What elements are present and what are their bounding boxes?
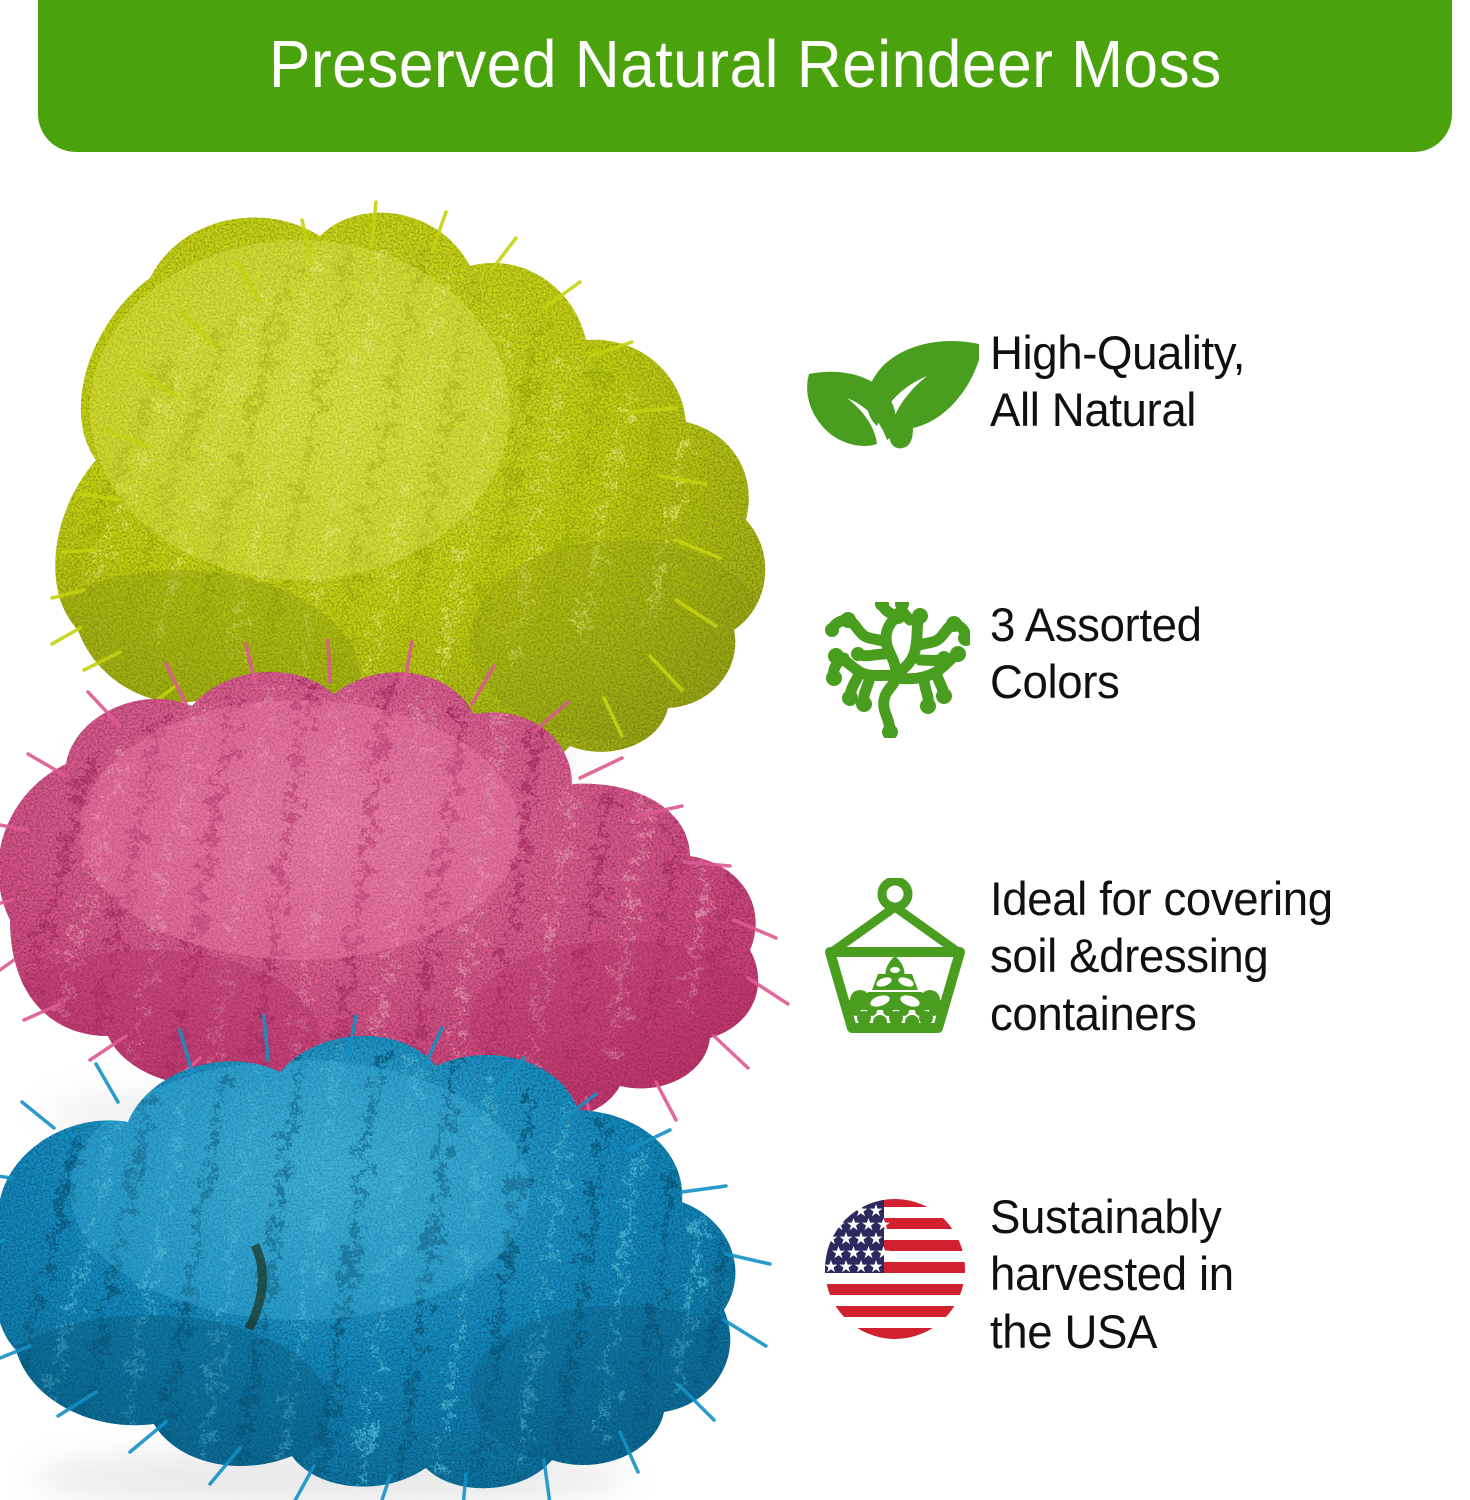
hanging-planter-basket-icon bbox=[800, 870, 990, 1042]
two-leaves-icon bbox=[800, 324, 990, 450]
feature-item-assorted-colors: 3 Assorted Colors bbox=[800, 596, 1470, 738]
header-banner: Preserved Natural Reindeer Moss bbox=[38, 0, 1452, 152]
coral-moss-clump-icon bbox=[800, 596, 990, 738]
feature-label-assorted-colors: 3 Assorted Colors bbox=[990, 596, 1456, 711]
feature-item-covering-soil: Ideal for covering soil &dressing contai… bbox=[800, 870, 1470, 1042]
feature-label-covering-soil: Ideal for covering soil &dressing contai… bbox=[990, 870, 1456, 1042]
feature-label-usa-harvested: Sustainably harvested in the USA bbox=[990, 1188, 1456, 1360]
feature-item-usa-harvested: Sustainably harvested in the USA bbox=[800, 1188, 1470, 1360]
product-photo bbox=[0, 160, 790, 1500]
moss-photo-illustration bbox=[0, 160, 790, 1500]
features-list: High-Quality, All Natural bbox=[800, 300, 1470, 1480]
feature-item-high-quality: High-Quality, All Natural bbox=[800, 324, 1470, 450]
page-title: Preserved Natural Reindeer Moss bbox=[269, 26, 1222, 103]
usa-flag-circle-icon bbox=[800, 1188, 990, 1342]
feature-label-high-quality: High-Quality, All Natural bbox=[990, 324, 1456, 439]
